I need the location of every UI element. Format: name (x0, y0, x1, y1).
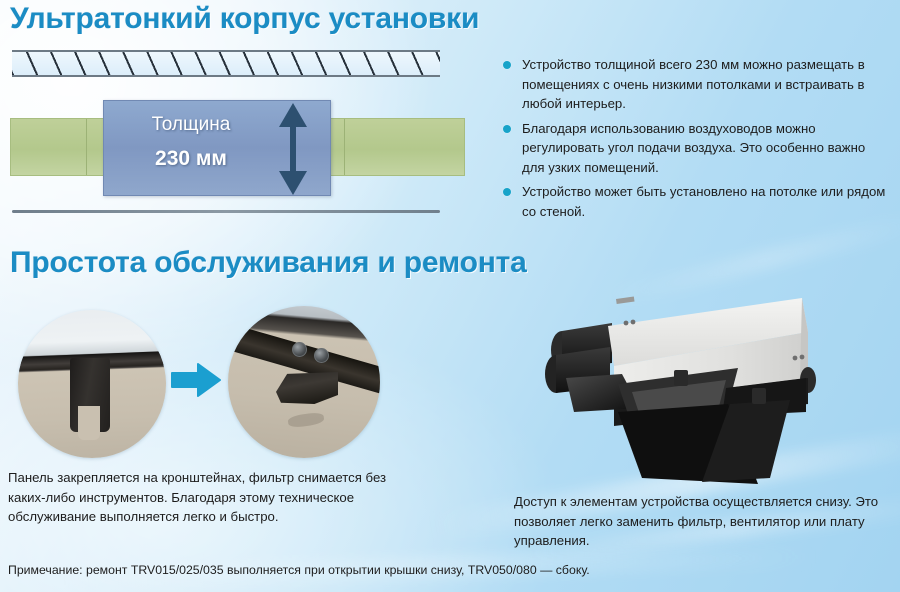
feature-bullet-list: Устройство толщиной всего 230 мм можно р… (500, 55, 890, 226)
floor-line (12, 210, 440, 213)
bullet-item: Устройство может быть установлено на пот… (500, 182, 890, 221)
bullet-text: Благодаря использованию воздуховодов мож… (522, 121, 865, 175)
thickness-label: Толщина (116, 114, 266, 136)
bullet-text: Устройство может быть установлено на пот… (522, 184, 885, 219)
bullet-item: Благодаря использованию воздуховодов мож… (500, 119, 890, 178)
bullet-item: Устройство толщиной всего 230 мм можно р… (500, 55, 890, 114)
bullet-dot-icon (503, 188, 511, 196)
footnote-text: Примечание: ремонт TRV015/025/035 выполн… (8, 562, 888, 578)
fastener-knob (314, 348, 329, 363)
thickness-value: 230 мм (116, 147, 266, 171)
air-duct-right (325, 118, 465, 176)
hatched-ceiling-icon (12, 50, 440, 77)
bullet-dot-icon (503, 125, 511, 133)
photo-bracket-closeup (18, 310, 166, 458)
device-photo-ventilation-unit (490, 292, 890, 492)
section-heading-service: Простота обслуживания и ремонта (10, 246, 527, 280)
photo-content (18, 310, 166, 458)
photo-filter-latch-closeup (228, 306, 380, 458)
thickness-diagram: Толщина 230 мм (0, 44, 465, 234)
air-duct-left (10, 118, 110, 176)
bullet-dot-icon (503, 61, 511, 69)
flow-arrow-icon (170, 362, 222, 398)
unit-thickness-box: Толщина 230 мм (103, 100, 331, 196)
bracket-slot (78, 406, 100, 440)
section-heading-thin-body: Ультратонкий корпус установки (10, 2, 479, 36)
caption-service-left: Панель закрепляется на кронштейнах, филь… (8, 468, 408, 527)
bottom-deflector (566, 368, 808, 484)
thickness-arrow-icon (276, 103, 310, 195)
caption-service-right: Доступ к элементам устройства осуществля… (514, 492, 894, 551)
fastener-knob (292, 342, 307, 357)
slide-canvas: Ультратонкий корпус установки Толщина 23… (0, 0, 900, 592)
photo-content (228, 306, 380, 458)
bullet-text: Устройство толщиной всего 230 мм можно р… (522, 57, 865, 111)
